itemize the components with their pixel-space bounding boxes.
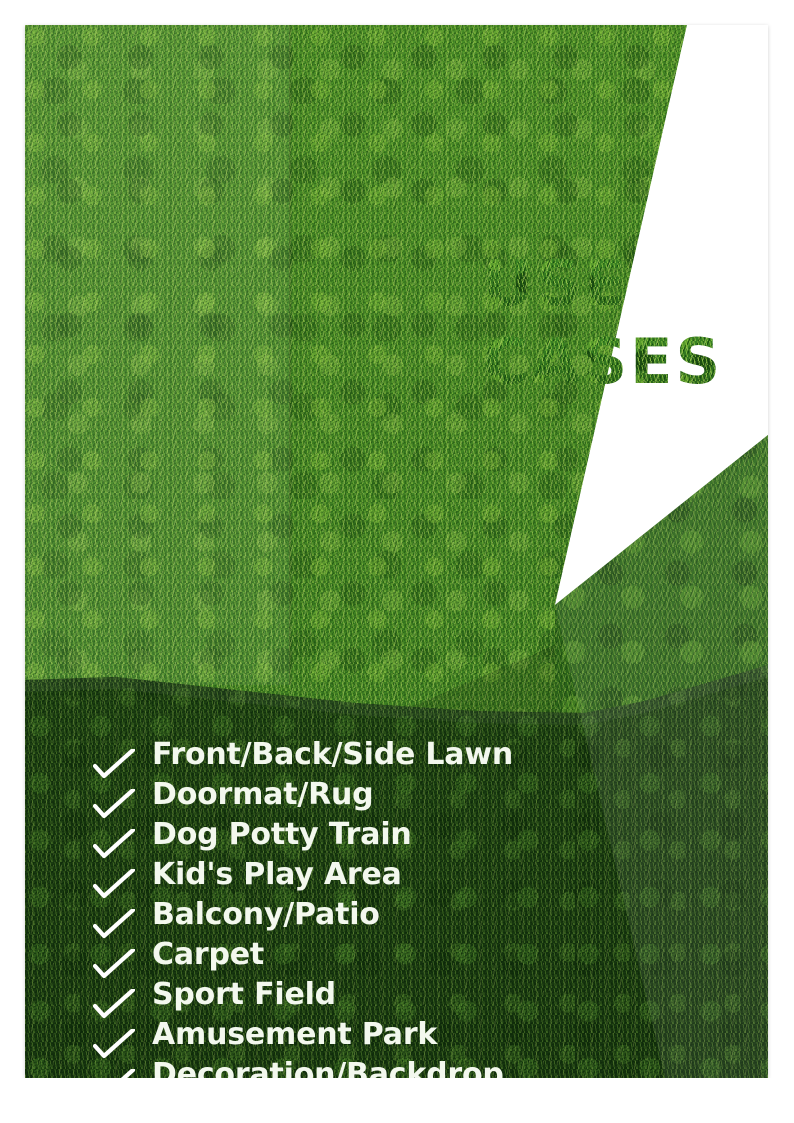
poster: USE CASES Front/Back/Side LawnDoormat/Ru… (0, 0, 794, 1123)
grass-background-light (25, 25, 768, 1078)
page-bottom-margin (0, 1078, 794, 1123)
product-photo: USE CASES Front/Back/Side LawnDoormat/Ru… (25, 25, 768, 1078)
